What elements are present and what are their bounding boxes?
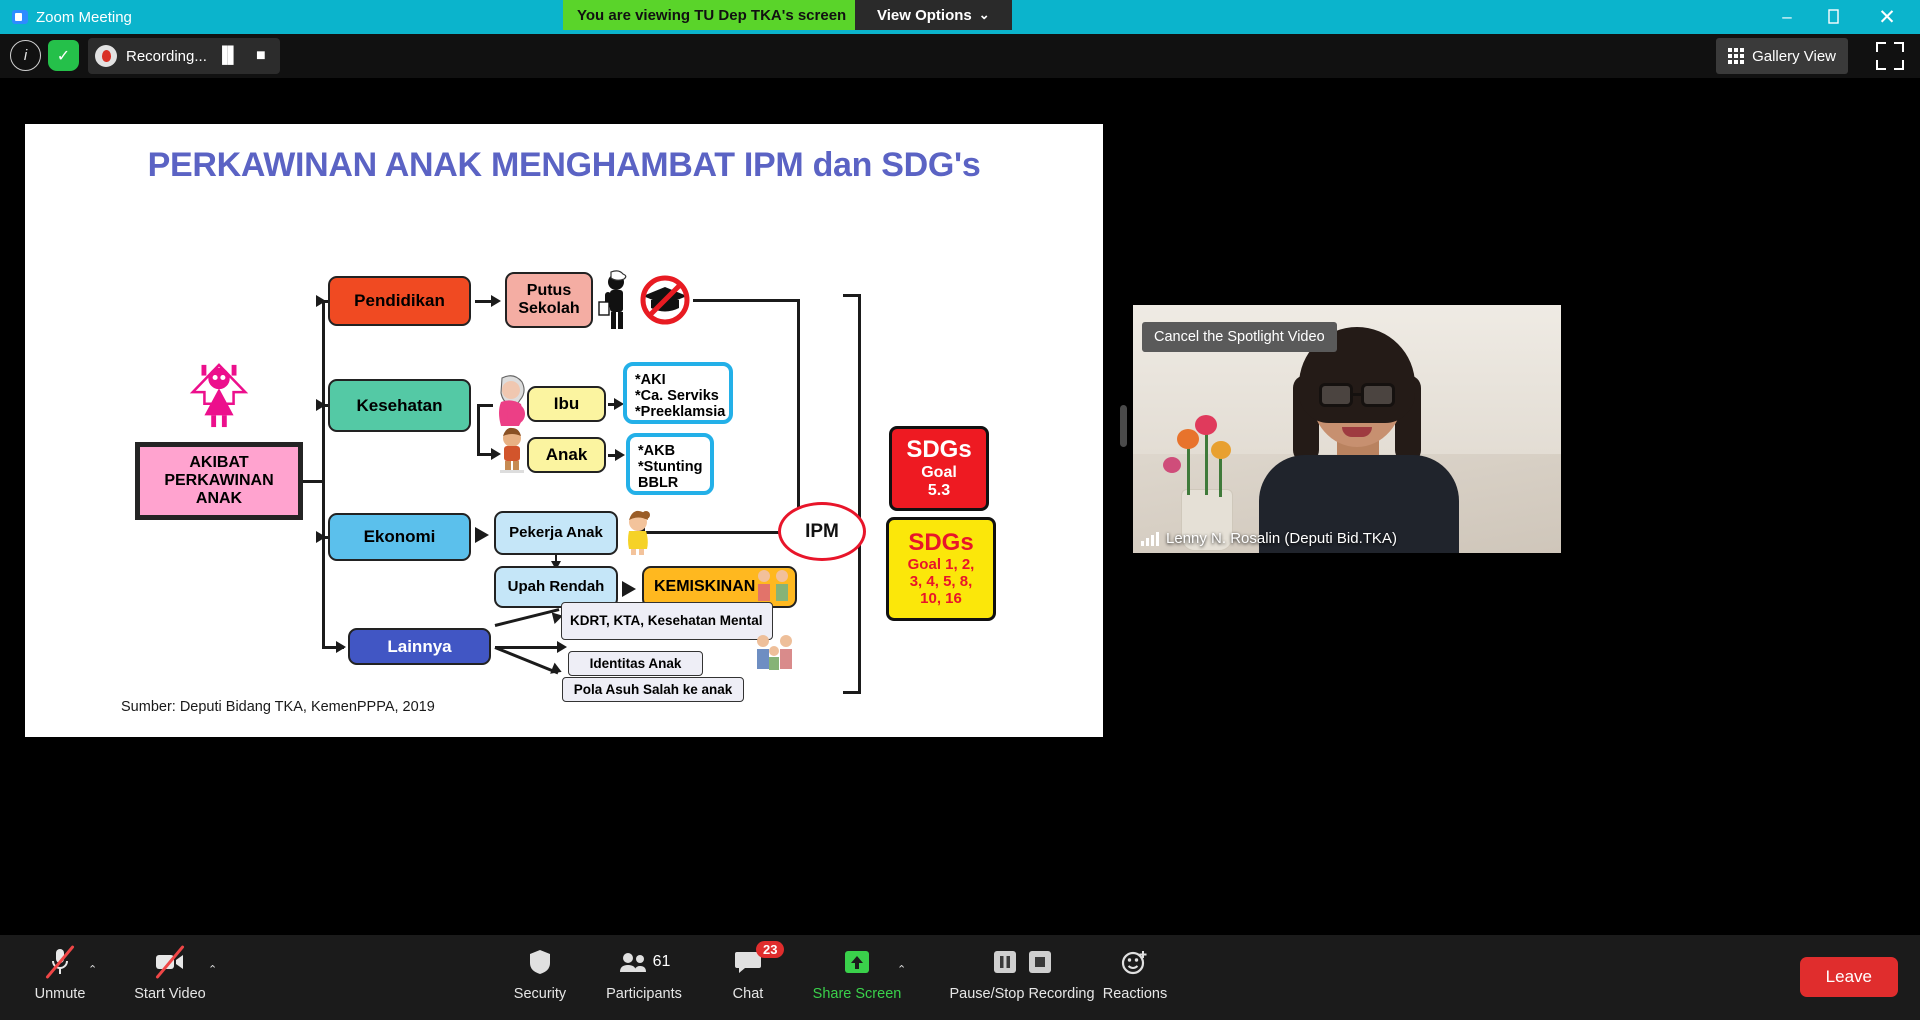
fullscreen-icon[interactable]	[1876, 42, 1904, 70]
arrow-icon	[475, 527, 489, 543]
arrow-icon	[316, 295, 326, 307]
cancel-spotlight-tooltip[interactable]: Cancel the Spotlight Video	[1142, 322, 1337, 352]
chat-button[interactable]: 23 Chat	[688, 944, 808, 1002]
reactions-smiley-icon	[1121, 944, 1149, 980]
app-title: Zoom Meeting	[36, 9, 132, 26]
recording-ctl-label: Pause/Stop Recording	[949, 986, 1094, 1002]
shared-screen-area[interactable]: PERKAWINAN ANAK MENGHAMBAT IPM dan SDG's…	[25, 92, 1103, 770]
family-icon	[752, 632, 798, 676]
working-child-icon	[621, 510, 651, 556]
reactions-label: Reactions	[1103, 986, 1167, 1002]
panel-resize-handle[interactable]	[1120, 405, 1127, 447]
node-ipm: IPM	[778, 502, 866, 561]
connector	[797, 299, 800, 534]
share-screen-label: Share Screen	[813, 986, 902, 1002]
meeting-info-icon[interactable]: i	[10, 40, 41, 71]
node-pekerja-anak: Pekerja Anak	[494, 511, 618, 555]
screen-share-banner: You are viewing TU Dep TKA's screen	[563, 0, 860, 30]
audio-options-chevron-icon[interactable]: ⌃	[88, 963, 97, 976]
unmute-button[interactable]: Unmute	[0, 944, 120, 1002]
node-ekonomi: Ekonomi	[328, 513, 471, 561]
encryption-shield-icon[interactable]: ✓	[48, 40, 79, 71]
node-anak: Anak	[527, 437, 606, 473]
participant-video-tile[interactable]: Cancel the Spotlight Video Lenny N. Rosa…	[1133, 305, 1561, 553]
gallery-view-label: Gallery View	[1752, 48, 1836, 65]
node-putus-sekolah-label: Putus Sekolah	[507, 282, 591, 318]
connector	[693, 299, 800, 302]
node-aki-details: *AKI *Ca. Serviks *Preeklamsia	[623, 362, 733, 424]
participants-count: 61	[653, 953, 671, 971]
connector-trunk	[322, 300, 325, 648]
grid-icon	[1728, 48, 1744, 64]
maximize-icon[interactable]	[1812, 0, 1858, 34]
node-sdgs-multi-goals: SDGs Goal 1, 2, 3, 4, 5, 8, 10, 16	[886, 517, 996, 621]
security-button[interactable]: Security	[480, 944, 600, 1002]
unmute-label: Unmute	[35, 986, 86, 1002]
stop-recording-icon[interactable]: ■	[249, 43, 273, 69]
view-options-button[interactable]: View Options ⌄	[855, 0, 1012, 30]
sdg2-goals-line-2: 3, 4, 5, 8,	[910, 574, 973, 591]
pause-recording-icon[interactable]: ▐▌	[216, 43, 240, 69]
chat-icon: 23	[734, 944, 762, 980]
sdg2-goals-line-3: 10, 16	[920, 591, 962, 608]
view-options-label: View Options	[877, 7, 972, 24]
node-putus-sekolah: Putus Sekolah	[505, 272, 593, 328]
akb-line-3: BBLR	[638, 475, 710, 491]
camera-off-icon	[155, 944, 185, 980]
gallery-view-button[interactable]: Gallery View	[1716, 38, 1848, 74]
chat-unread-badge: 23	[756, 941, 784, 958]
slide-title: PERKAWINAN ANAK MENGHAMBAT IPM dan SDG's	[25, 146, 1103, 185]
sdg1-goal-number: 5.3	[928, 482, 950, 500]
sdg2-title: SDGs	[908, 530, 973, 557]
participant-name-label: Lenny N. Rosalin (Deputi Bid.TKA)	[1141, 530, 1397, 547]
security-label: Security	[514, 986, 566, 1002]
eyeglasses-right-lens	[1361, 383, 1395, 407]
student-with-backpack-icon	[597, 270, 633, 330]
node-ibu: Ibu	[527, 386, 606, 422]
signal-strength-icon	[1141, 532, 1159, 546]
two-children-icon	[752, 567, 794, 607]
connector	[495, 646, 563, 649]
connector	[645, 531, 800, 534]
microphone-muted-icon	[49, 944, 71, 980]
aki-line-3: *Preeklamsia	[635, 404, 729, 420]
node-kdrt: KDRT, KTA, Kesehatan Mental	[561, 602, 773, 640]
recording-label: Recording...	[126, 48, 207, 65]
node-sdgs-goal-5-3: SDGs Goal 5.3	[889, 426, 989, 511]
node-lainnya: Lainnya	[348, 628, 491, 665]
no-graduation-cap-icon	[637, 274, 693, 326]
child-boy-icon	[497, 427, 527, 473]
node-pendidikan: Pendidikan	[328, 276, 471, 326]
arrow-icon	[550, 663, 564, 678]
chevron-down-icon: ⌄	[979, 7, 990, 23]
recording-controls-icon	[992, 944, 1053, 980]
aki-line-2: *Ca. Serviks	[635, 388, 729, 404]
reactions-button[interactable]: Reactions	[1075, 944, 1195, 1002]
grouping-bracket	[843, 294, 861, 694]
connector	[477, 404, 493, 407]
connector	[477, 404, 480, 456]
connector	[494, 646, 558, 674]
participants-icon: 61	[618, 944, 671, 980]
akb-line-1: *AKB	[638, 443, 710, 459]
presentation-slide: PERKAWINAN ANAK MENGHAMBAT IPM dan SDG's…	[25, 124, 1103, 737]
minimize-icon[interactable]: –	[1764, 0, 1810, 34]
participants-button[interactable]: 61 Participants	[584, 944, 704, 1002]
video-options-chevron-icon[interactable]: ⌃	[208, 963, 217, 976]
eyeglasses-left-lens	[1319, 383, 1353, 407]
participants-label: Participants	[606, 986, 682, 1002]
connector	[495, 608, 560, 627]
arrow-icon	[336, 641, 346, 653]
sdg1-title: SDGs	[906, 437, 971, 464]
slide-source-note: Sumber: Deputi Bidang TKA, KemenPPPA, 20…	[121, 699, 435, 715]
arrow-icon	[316, 399, 326, 411]
meeting-controls-bar: Unmute ⌃ Start Video ⌃ Security 61 Parti…	[0, 935, 1920, 1020]
flower-vase-decoration	[1147, 401, 1251, 551]
node-identitas-anak: Identitas Anak	[568, 651, 703, 676]
sdg2-goals-line-1: Goal 1, 2,	[908, 557, 975, 574]
bride-girl-icon	[185, 359, 253, 431]
close-icon[interactable]: ✕	[1864, 0, 1910, 34]
zoom-logo-icon	[12, 10, 28, 24]
leave-button[interactable]: Leave	[1800, 957, 1898, 997]
aki-line-1: *AKI	[635, 372, 729, 388]
node-akb-details: *AKB *Stunting BBLR	[626, 433, 714, 495]
recording-indicator: Recording... ▐▌ ■	[88, 38, 280, 74]
top-toolbar: i ✓ Recording... ▐▌ ■ Gallery View	[0, 34, 1920, 78]
chat-label: Chat	[733, 986, 764, 1002]
arrow-icon	[316, 531, 326, 543]
recording-dot-icon	[95, 45, 117, 67]
title-bar: Zoom Meeting You are viewing TU Dep TKA'…	[0, 0, 1920, 34]
participant-name-text: Lenny N. Rosalin (Deputi Bid.TKA)	[1166, 530, 1397, 547]
arrow-icon	[615, 449, 625, 461]
share-options-chevron-icon[interactable]: ⌃	[897, 963, 906, 976]
akb-line-2: *Stunting	[638, 459, 710, 475]
pregnant-woman-icon	[494, 374, 528, 428]
arrow-icon	[622, 581, 636, 597]
arrow-icon	[491, 295, 501, 307]
node-akibat-perkawinan-anak: AKIBAT PERKAWINAN ANAK	[135, 442, 303, 520]
node-pola-asuh: Pola Asuh Salah ke anak	[562, 677, 744, 702]
sdg1-goal-label: Goal	[921, 464, 957, 482]
share-screen-icon	[842, 944, 872, 980]
node-kesehatan: Kesehatan	[328, 379, 471, 432]
shield-icon	[528, 944, 552, 980]
start-video-label: Start Video	[134, 986, 205, 1002]
arrow-icon	[557, 641, 567, 653]
